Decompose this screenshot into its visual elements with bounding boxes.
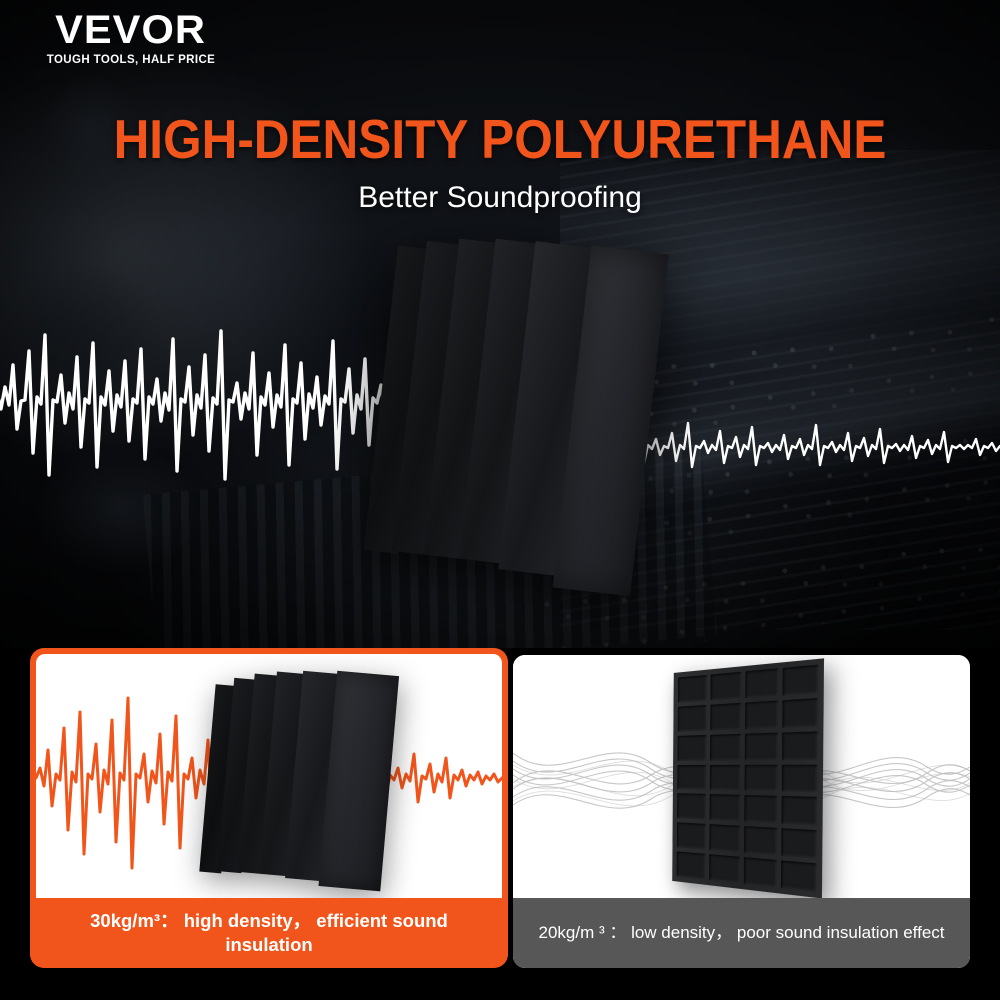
comparison-card-low-density: 20kg/m ³ ： low density， poor sound insul… (513, 655, 970, 968)
vevor-logo: VEVOR TOUGH TOOLS, HALF PRICE (30, 0, 232, 76)
attenuated-sound-wave-icon (612, 405, 1000, 485)
high-density-illustration (36, 654, 502, 898)
comparison-card-high-density: 30kg/m³： high density， efficient sound i… (30, 648, 508, 968)
low-density-illustration (513, 655, 970, 898)
headline-block: HIGH-DENSITY POLYURETHANE Better Soundpr… (0, 112, 1000, 213)
low-density-caption-text: 20kg/m ³ ： low density， poor sound insul… (516, 922, 966, 945)
acoustic-foam-panel-stack (361, 224, 669, 602)
low-density-caption: 20kg/m ³ ： low density， poor sound insul… (513, 898, 970, 968)
brand-name: VEVOR (56, 10, 207, 50)
headline-secondary: Better Soundproofing (0, 183, 1000, 213)
high-density-caption: 30kg/m³： high density， efficient sound i… (30, 898, 508, 968)
headline-primary: HIGH-DENSITY POLYURETHANE (50, 112, 950, 167)
low-density-acoustic-tile (672, 658, 824, 898)
brand-tagline: TOUGH TOOLS, HALF PRICE (47, 55, 216, 67)
high-density-caption-text: 30kg/m³： high density， efficient sound i… (30, 909, 508, 957)
product-marketing-image: VEVOR TOUGH TOOLS, HALF PRICE HIGH-DENSI… (0, 0, 1000, 1000)
high-density-foam-stack (199, 660, 403, 891)
